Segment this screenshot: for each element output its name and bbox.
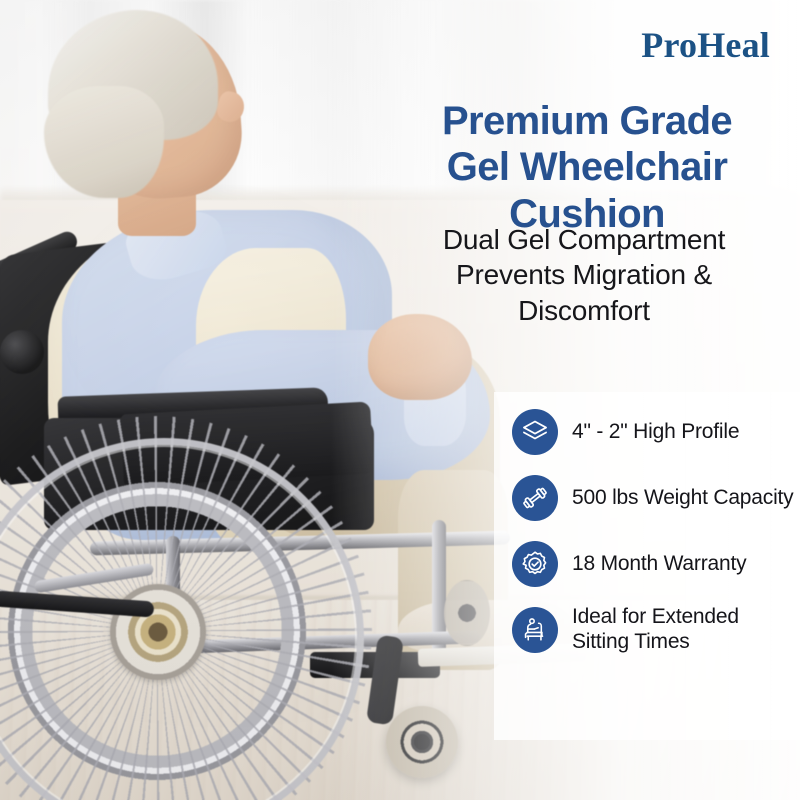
brand-logo: ProHeal <box>641 24 770 66</box>
feature-item-high-profile: 4" - 2" High Profile <box>512 404 800 460</box>
subheadline-line-1: Dual Gel Compartment <box>384 222 784 257</box>
marketing-content: ProHeal Premium Grade Gel Wheelchair Cus… <box>0 0 800 800</box>
feature-label: 18 Month Warranty <box>572 552 746 577</box>
feature-label: Ideal for Extended Sitting Times <box>572 605 800 655</box>
feature-item-extended-sitting: Ideal for Extended Sitting Times <box>512 602 800 658</box>
subheadline-line-3: Discomfort <box>384 293 784 328</box>
layers-icon <box>512 409 558 455</box>
product-marketing-image: ProHeal Premium Grade Gel Wheelchair Cus… <box>0 0 800 800</box>
subheadline: Dual Gel Compartment Prevents Migration … <box>384 222 784 328</box>
seated-person-icon <box>512 607 558 653</box>
feature-list: 4" - 2" High Profile 500 lbs Weight <box>512 404 800 668</box>
feature-label: 500 lbs Weight Capacity <box>572 486 793 511</box>
dumbbell-icon <box>512 475 558 521</box>
subheadline-line-2: Prevents Migration & <box>384 257 784 292</box>
page-title: Premium Grade Gel Wheelchair Cushion <box>392 98 782 237</box>
headline-line-1: Premium Grade <box>392 98 782 144</box>
feature-item-weight-capacity: 500 lbs Weight Capacity <box>512 470 800 526</box>
warranty-badge-icon <box>512 541 558 587</box>
feature-label: 4" - 2" High Profile <box>572 420 739 445</box>
feature-item-warranty: 18 Month Warranty <box>512 536 800 592</box>
